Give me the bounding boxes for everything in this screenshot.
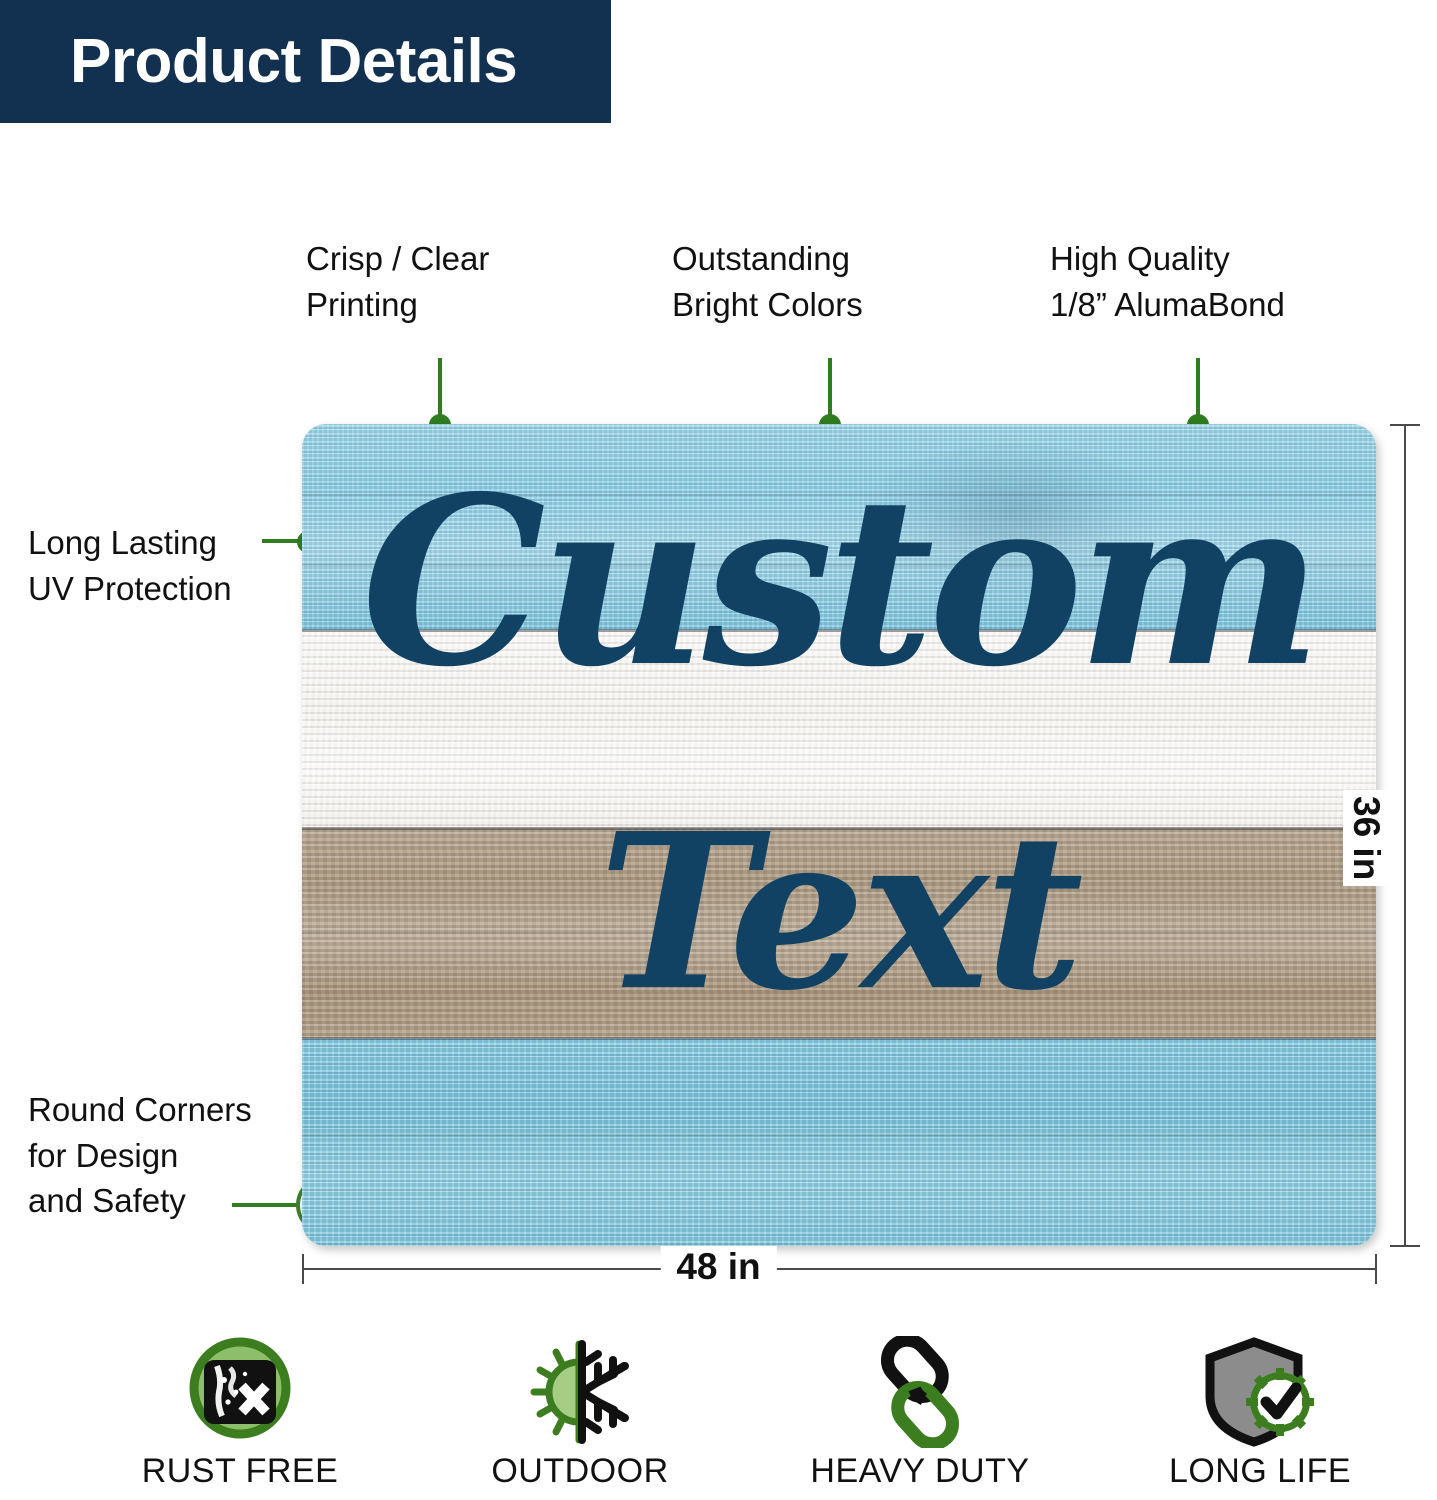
- feature-label-outdoor: OUTDOOR: [491, 1452, 668, 1491]
- dimension-label-width: 48 in: [660, 1246, 776, 1288]
- dimension-line-vertical: [1404, 424, 1406, 1246]
- sign-custom-text: Custom Text: [302, 424, 1376, 1246]
- leader-line-round-corners: [232, 1203, 300, 1207]
- callout-outstanding-bright-colors: Outstanding Bright Colors: [672, 236, 863, 327]
- feature-badges-row: RUST FREE: [70, 1336, 1430, 1500]
- product-sign: Custom Text: [302, 424, 1376, 1246]
- feature-rust-free: RUST FREE: [70, 1336, 410, 1500]
- callout-round-corners-design-safety: Round Corners for Design and Safety: [28, 1087, 252, 1224]
- dimension-line-horizontal: [302, 1268, 1376, 1270]
- rust-free-icon: [184, 1336, 296, 1448]
- header-banner: Product Details: [0, 0, 611, 123]
- shield-clock-check-icon: [1200, 1336, 1320, 1448]
- sign-text-line-1: Custom: [302, 466, 1376, 698]
- feature-long-life: LONG LIFE: [1090, 1336, 1430, 1500]
- sign-text-line-2: Text: [302, 806, 1376, 1020]
- page-title: Product Details: [0, 31, 517, 93]
- leader-line-high-quality: [1196, 358, 1200, 418]
- feature-label-heavy-duty: HEAVY DUTY: [810, 1452, 1029, 1491]
- dimension-cap-right: [1375, 1254, 1377, 1284]
- feature-outdoor: OUTDOOR: [410, 1336, 750, 1500]
- leader-line-crisp-clear: [438, 358, 442, 418]
- callout-high-quality-alumabond: High Quality 1/8” AlumaBond: [1050, 236, 1285, 327]
- dimension-cap-top: [1390, 424, 1420, 426]
- feature-label-rust-free: RUST FREE: [142, 1452, 339, 1491]
- chain-link-icon: [860, 1336, 980, 1448]
- callout-crisp-clear-printing: Crisp / Clear Printing: [306, 236, 489, 327]
- dimension-cap-left: [302, 1254, 304, 1284]
- feature-label-long-life: LONG LIFE: [1169, 1452, 1351, 1491]
- dimension-cap-bottom: [1390, 1245, 1420, 1247]
- callout-long-lasting-uv-protection: Long Lasting UV Protection: [28, 520, 232, 611]
- feature-heavy-duty: HEAVY DUTY: [750, 1336, 1090, 1500]
- sign-face: Custom Text: [302, 424, 1376, 1246]
- leader-line-bright-colors: [828, 358, 832, 418]
- sun-snowflake-icon: [520, 1336, 640, 1448]
